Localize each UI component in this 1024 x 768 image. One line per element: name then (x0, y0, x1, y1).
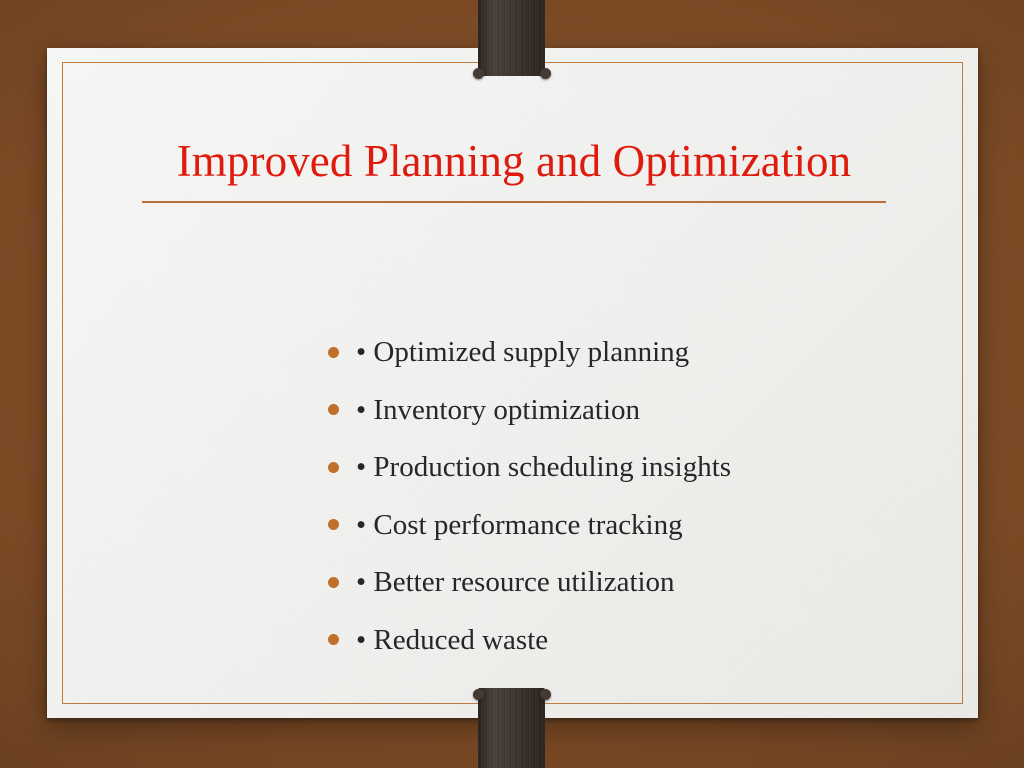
list-item: • Cost performance tracking (328, 504, 948, 562)
round-bullet-icon (328, 389, 356, 431)
list-item-label: • Optimized supply planning (356, 331, 689, 373)
top-strap-foot-right-icon (540, 68, 551, 79)
round-bullet-icon (328, 619, 356, 661)
bottom-strap-clip (478, 688, 545, 768)
title-divider (142, 201, 886, 203)
list-item-label: • Production scheduling insights (356, 446, 731, 488)
list-item: • Inventory optimization (328, 389, 948, 447)
list-item: • Optimized supply planning (328, 331, 948, 389)
top-strap-clip (478, 0, 545, 76)
list-item-label: • Reduced waste (356, 619, 548, 661)
bottom-strap-foot-left-icon (473, 689, 484, 700)
title-block: Improved Planning and Optimization (142, 130, 886, 203)
list-item: • Better resource utilization (328, 561, 948, 619)
bottom-strap-foot-right-icon (540, 689, 551, 700)
list-item-label: • Better resource utilization (356, 561, 675, 603)
top-strap-foot-left-icon (473, 68, 484, 79)
slide-card: Improved Planning and Optimization • Opt… (47, 48, 978, 718)
round-bullet-icon (328, 446, 356, 488)
page-title: Improved Planning and Optimization (142, 130, 886, 192)
list-item: • Production scheduling insights (328, 446, 948, 504)
bullet-list: • Optimized supply planning • Inventory … (328, 331, 948, 676)
list-item-label: • Cost performance tracking (356, 504, 683, 546)
slide-stage: Improved Planning and Optimization • Opt… (0, 0, 1024, 768)
round-bullet-icon (328, 331, 356, 373)
round-bullet-icon (328, 561, 356, 603)
list-item: • Reduced waste (328, 619, 948, 677)
round-bullet-icon (328, 504, 356, 546)
list-item-label: • Inventory optimization (356, 389, 640, 431)
